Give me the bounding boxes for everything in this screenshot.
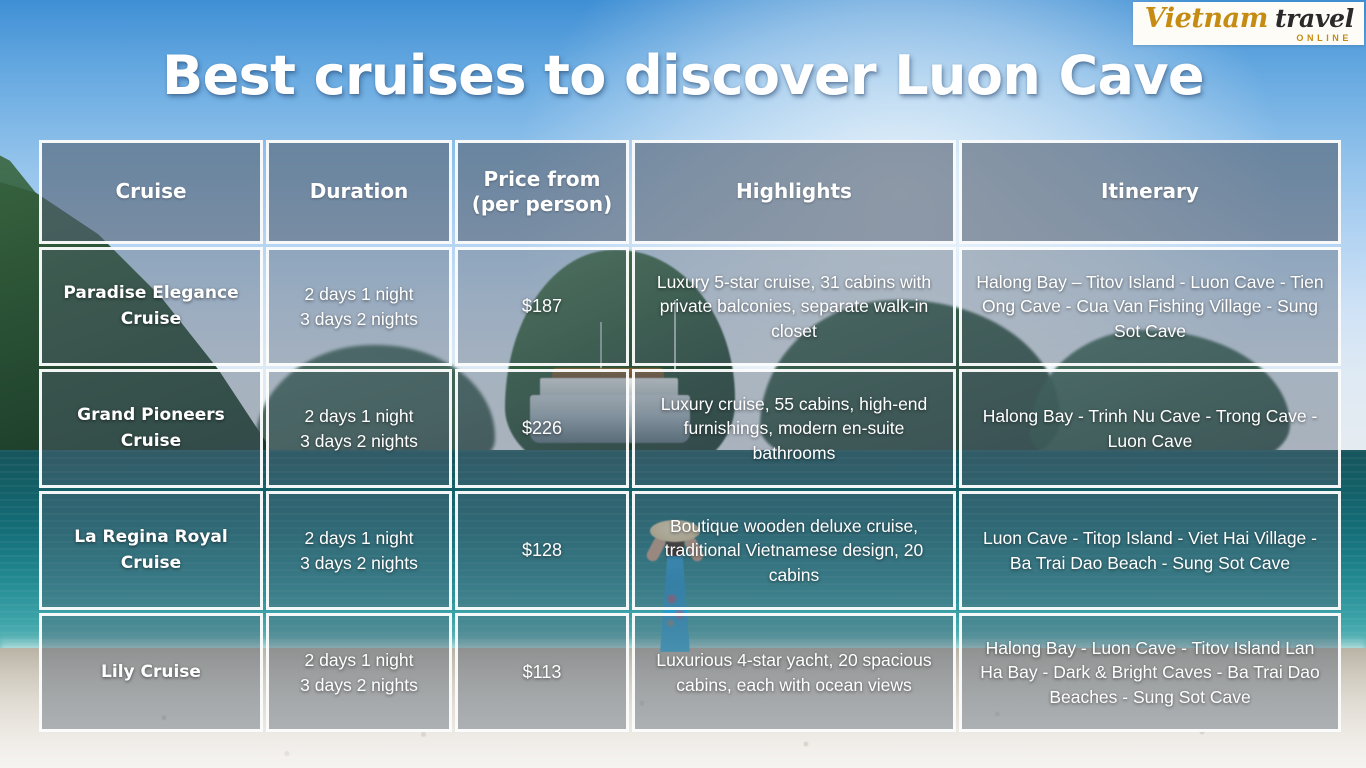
cell-highlights: Luxury cruise, 55 cabins, high-end furni… [632, 369, 956, 488]
cell-price: $113 [455, 613, 629, 732]
logo-tagline: ONLINE [1145, 34, 1354, 43]
cruise-comparison-table-wrapper: Cruise Duration Price from (per person) … [36, 137, 1332, 728]
cell-itinerary: Luon Cave - Titop Island - Viet Hai Vill… [959, 491, 1341, 610]
duration-line-1: 2 days 1 night [279, 648, 439, 673]
cell-duration: 2 days 1 night 3 days 2 nights [266, 613, 452, 732]
column-header-duration: Duration [266, 140, 452, 244]
table-header-row: Cruise Duration Price from (per person) … [39, 140, 1341, 244]
cell-itinerary: Halong Bay - Trinh Nu Cave - Trong Cave … [959, 369, 1341, 488]
cell-price: $187 [455, 247, 629, 366]
cell-highlights: Luxury 5-star cruise, 31 cabins with pri… [632, 247, 956, 366]
table-row: Lily Cruise 2 days 1 night 3 days 2 nigh… [39, 613, 1341, 732]
table-row: Grand Pioneers Cruise 2 days 1 night 3 d… [39, 369, 1341, 488]
cell-highlights: Boutique wooden deluxe cruise, tradition… [632, 491, 956, 610]
cell-itinerary: Halong Bay - Luon Cave - Titov Island La… [959, 613, 1341, 732]
column-header-price: Price from (per person) [455, 140, 629, 244]
cell-itinerary: Halong Bay – Titov Island - Luon Cave - … [959, 247, 1341, 366]
duration-line-1: 2 days 1 night [279, 282, 439, 307]
cell-cruise-name: Paradise Elegance Cruise [39, 247, 263, 366]
cell-duration: 2 days 1 night 3 days 2 nights [266, 369, 452, 488]
cell-price: $226 [455, 369, 629, 488]
page-title: Best cruises to discover Luon Cave [0, 44, 1366, 107]
cell-cruise-name: Grand Pioneers Cruise [39, 369, 263, 488]
cell-price: $128 [455, 491, 629, 610]
logo-word-travel: travel [1275, 6, 1354, 31]
column-header-cruise: Cruise [39, 140, 263, 244]
column-header-highlights: Highlights [632, 140, 956, 244]
logo-word-vietnam: Vietnam [1145, 5, 1268, 32]
table-row: La Regina Royal Cruise 2 days 1 night 3 … [39, 491, 1341, 610]
duration-line-2: 3 days 2 nights [279, 307, 439, 332]
column-header-price-line2: (per person) [472, 192, 613, 216]
logo-wordmark: Vietnam travel [1145, 5, 1354, 32]
column-header-itinerary: Itinerary [959, 140, 1341, 244]
cell-highlights: Luxurious 4-star yacht, 20 spacious cabi… [632, 613, 956, 732]
table-header: Cruise Duration Price from (per person) … [39, 140, 1341, 244]
cell-cruise-name: La Regina Royal Cruise [39, 491, 263, 610]
table-row: Paradise Elegance Cruise 2 days 1 night … [39, 247, 1341, 366]
cell-cruise-name: Lily Cruise [39, 613, 263, 732]
column-header-price-line1: Price from [484, 167, 601, 191]
duration-line-2: 3 days 2 nights [279, 551, 439, 576]
duration-line-1: 2 days 1 night [279, 526, 439, 551]
brand-logo[interactable]: Vietnam travel ONLINE [1133, 2, 1364, 45]
duration-line-1: 2 days 1 night [279, 404, 439, 429]
duration-line-2: 3 days 2 nights [279, 673, 439, 698]
cell-duration: 2 days 1 night 3 days 2 nights [266, 247, 452, 366]
duration-line-2: 3 days 2 nights [279, 429, 439, 454]
cruise-comparison-table: Cruise Duration Price from (per person) … [36, 137, 1344, 735]
cell-duration: 2 days 1 night 3 days 2 nights [266, 491, 452, 610]
table-body: Paradise Elegance Cruise 2 days 1 night … [39, 247, 1341, 732]
